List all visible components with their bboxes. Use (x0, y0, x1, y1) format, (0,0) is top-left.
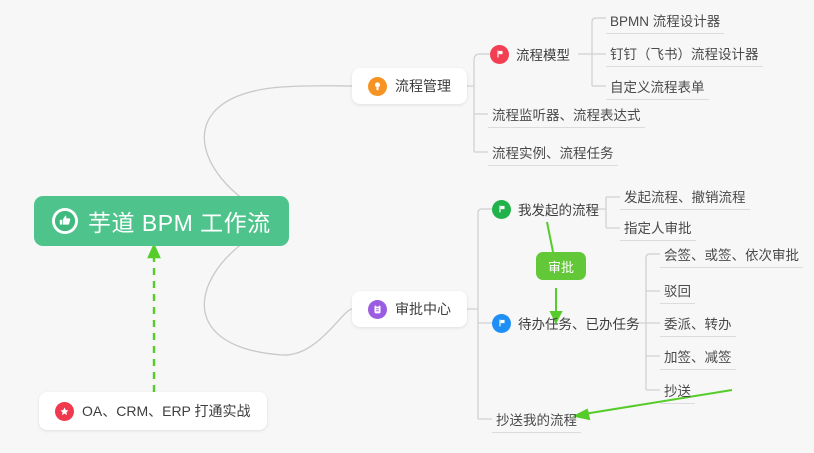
leaf-node[interactable]: 指定人审批 (620, 215, 696, 241)
leaf-label: 流程实例、流程任务 (492, 142, 614, 162)
node-todo-done[interactable]: 待办任务、已办任务 (492, 310, 640, 336)
branch-node-approval-center[interactable]: 审批中心 (352, 291, 467, 327)
flag-icon (490, 45, 509, 64)
node-my-initiated[interactable]: 我发起的流程 (492, 196, 599, 222)
flag-icon (492, 200, 511, 219)
lightbulb-icon (368, 77, 387, 96)
leaf-node[interactable]: 抄送我的流程 (492, 407, 581, 433)
leaf-node[interactable]: 流程监听器、流程表达式 (488, 102, 645, 128)
leaf-label: 流程监听器、流程表达式 (492, 104, 641, 124)
leaf-label: 驳回 (664, 280, 691, 300)
flag-icon (492, 314, 511, 333)
leaf-label: 抄送 (664, 380, 691, 400)
leaf-label: 委派、转办 (664, 313, 732, 333)
leaf-node[interactable]: BPMN 流程设计器 (606, 8, 724, 34)
leaf-label: 自定义流程表单 (610, 76, 705, 96)
star-icon (55, 402, 74, 421)
leaf-label: 会签、或签、依次审批 (664, 244, 799, 264)
leaf-label: BPMN 流程设计器 (610, 10, 720, 30)
node-label: 流程模型 (516, 44, 570, 64)
leaf-node[interactable]: 驳回 (660, 278, 695, 304)
leaf-node[interactable]: 会签、或签、依次审批 (660, 242, 803, 268)
bottom-note-node[interactable]: OA、CRM、ERP 打通实战 (39, 392, 267, 430)
leaf-node[interactable]: 加签、减签 (660, 344, 736, 370)
thumbs-up-icon (52, 208, 78, 234)
node-label: 我发起的流程 (518, 199, 599, 219)
mindmap-canvas: 芋道 BPM 工作流 流程管理 流程模型 BPMN 流程设计器 钉钉（飞书）流程… (0, 0, 814, 453)
root-node-label: 芋道 BPM 工作流 (88, 204, 271, 238)
chip-label: 审批 (548, 257, 574, 276)
branch-label: 流程管理 (395, 76, 451, 96)
node-label: 待办任务、已办任务 (518, 313, 640, 333)
leaf-node[interactable]: 自定义流程表单 (606, 74, 709, 100)
node-process-model[interactable]: 流程模型 (490, 41, 570, 67)
leaf-node[interactable]: 抄送 (660, 378, 695, 404)
root-node[interactable]: 芋道 BPM 工作流 (34, 196, 289, 246)
leaf-label: 抄送我的流程 (496, 409, 577, 429)
leaf-label: 钉钉（飞书）流程设计器 (610, 43, 759, 63)
approval-annotation-chip[interactable]: 审批 (536, 252, 586, 280)
branch-label: 审批中心 (395, 299, 451, 319)
bottom-note-label: OA、CRM、ERP 打通实战 (82, 401, 251, 421)
leaf-label: 加签、减签 (664, 346, 732, 366)
branch-node-process-management[interactable]: 流程管理 (352, 68, 467, 104)
clipboard-icon (368, 300, 387, 319)
leaf-label: 发起流程、撤销流程 (624, 186, 746, 206)
leaf-node[interactable]: 发起流程、撤销流程 (620, 184, 750, 210)
leaf-node[interactable]: 流程实例、流程任务 (488, 140, 618, 166)
leaf-node[interactable]: 委派、转办 (660, 311, 736, 337)
leaf-label: 指定人审批 (624, 217, 692, 237)
leaf-node[interactable]: 钉钉（飞书）流程设计器 (606, 41, 763, 67)
